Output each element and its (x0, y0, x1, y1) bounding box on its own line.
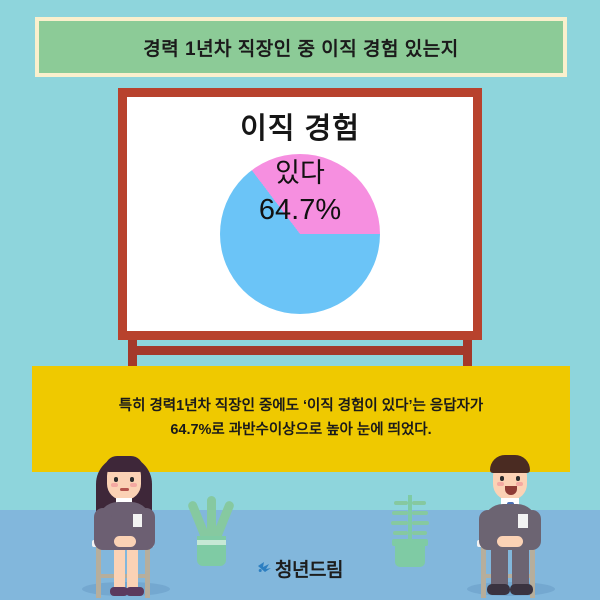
plant-right-pot-rim (392, 539, 428, 546)
potted-plant-left (192, 500, 232, 566)
caption-line-2: 64.7%로 과반수이상으로 높아 눈에 띄었다. (119, 419, 483, 443)
caption-line-1: 특히 경력1년차 직장인 중에도 ‘이직 경험이 있다’는 응답자가 (119, 395, 483, 419)
plant-right-leaf-5 (391, 521, 408, 525)
brand-logo-text: 청년드림 (275, 561, 343, 580)
whiteboard-face: 이직 경험 있다 64.7% (127, 97, 473, 331)
title-banner: 경력 1년차 직장인 중 이직 경험 있는지 (35, 17, 567, 77)
man-shoe-right (510, 584, 533, 595)
woman-hair-fringe (105, 456, 143, 472)
plant-right-leaf-2 (412, 501, 426, 505)
woman-shoe-right (126, 587, 144, 596)
woman-blush-right (130, 483, 137, 487)
woman-blush-left (111, 483, 118, 487)
man-eye-left (500, 476, 504, 481)
caption-text-group: 특히 경력1년차 직장인 중에도 ‘이직 경험이 있다’는 응답자가 64.7%… (99, 395, 503, 443)
woman-name-badge (133, 514, 142, 527)
woman-arm-left (94, 508, 112, 550)
brand-logo[interactable]: 청년드림 (0, 560, 600, 581)
plant-right-leaf-7 (393, 531, 408, 535)
man-hair (490, 455, 530, 473)
man-blush-right (516, 482, 523, 486)
woman-eye-right (130, 477, 134, 482)
man-arm-left (479, 510, 497, 550)
infographic-canvas: 경력 1년차 직장인 중 이직 경험 있는지 이직 경험 있다 64.7% 특히… (0, 0, 600, 600)
woman-hands (114, 536, 136, 547)
man-blush-left (497, 482, 504, 486)
man-shoe-left (487, 584, 510, 595)
man-name-badge (518, 514, 528, 528)
woman-mouth (120, 488, 129, 491)
whiteboard-frame: 이직 경험 있다 64.7% (118, 88, 482, 340)
plant-right-leaf-4 (412, 511, 428, 515)
page-title: 경력 1년차 직장인 중 이직 경험 있는지 (143, 34, 458, 61)
plant-right-leaf-6 (412, 521, 429, 525)
bird-icon (257, 560, 273, 576)
plant-left-pot-stripe (197, 540, 226, 545)
plant-right-leaf-1 (394, 501, 408, 505)
brand-logo-row: 청년드림 (257, 560, 343, 580)
chart-title: 이직 경험 (127, 105, 473, 147)
woman-eye-left (114, 477, 118, 482)
easel-crossbar (128, 346, 472, 355)
title-banner-inner: 경력 1년차 직장인 중 이직 경험 있는지 (39, 21, 563, 73)
plant-right-leaf-8 (412, 531, 427, 535)
man-hands (497, 536, 523, 547)
pie-chart (220, 154, 380, 314)
potted-plant-right (390, 495, 430, 567)
plant-right-leaf-3 (392, 511, 408, 515)
man-eye-right (516, 476, 520, 481)
